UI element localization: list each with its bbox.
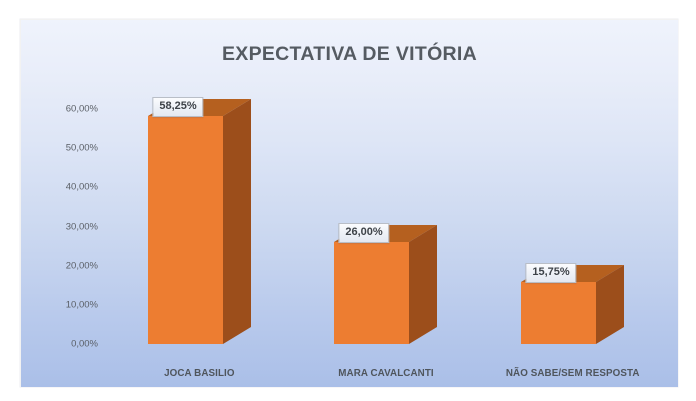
bar-front-face: [521, 282, 596, 344]
bar-joca-basilio-3d[interactable]: [148, 99, 251, 344]
x-axis-category-label: MARA CAVALCANTI: [293, 368, 480, 387]
data-label-mara-cavalcanti: 26,00%: [338, 223, 389, 243]
x-axis-category-label: NÃO SABE/SEM RESPOSTA: [479, 368, 666, 387]
bar-front-face: [334, 242, 409, 344]
bar-front-face: [148, 116, 223, 344]
data-label-joca-basilio: 58,25%: [152, 97, 203, 117]
data-label-nao-sabe-sem-resposta: 15,75%: [525, 263, 576, 283]
x-axis: JOCA BASILIO MARA CAVALCANTI NÃO SABE/SE…: [106, 368, 666, 387]
chart-container: EXPECTATIVA DE VITÓRIA 60,00% 50,00% 40,…: [0, 0, 696, 401]
x-axis-category-label: JOCA BASILIO: [106, 368, 293, 387]
bar-side-face: [223, 99, 251, 344]
bar-side-face: [409, 225, 437, 344]
bars-group-rendered: [21, 20, 678, 387]
chart-plot-area[interactable]: EXPECTATIVA DE VITÓRIA 60,00% 50,00% 40,…: [20, 19, 678, 387]
